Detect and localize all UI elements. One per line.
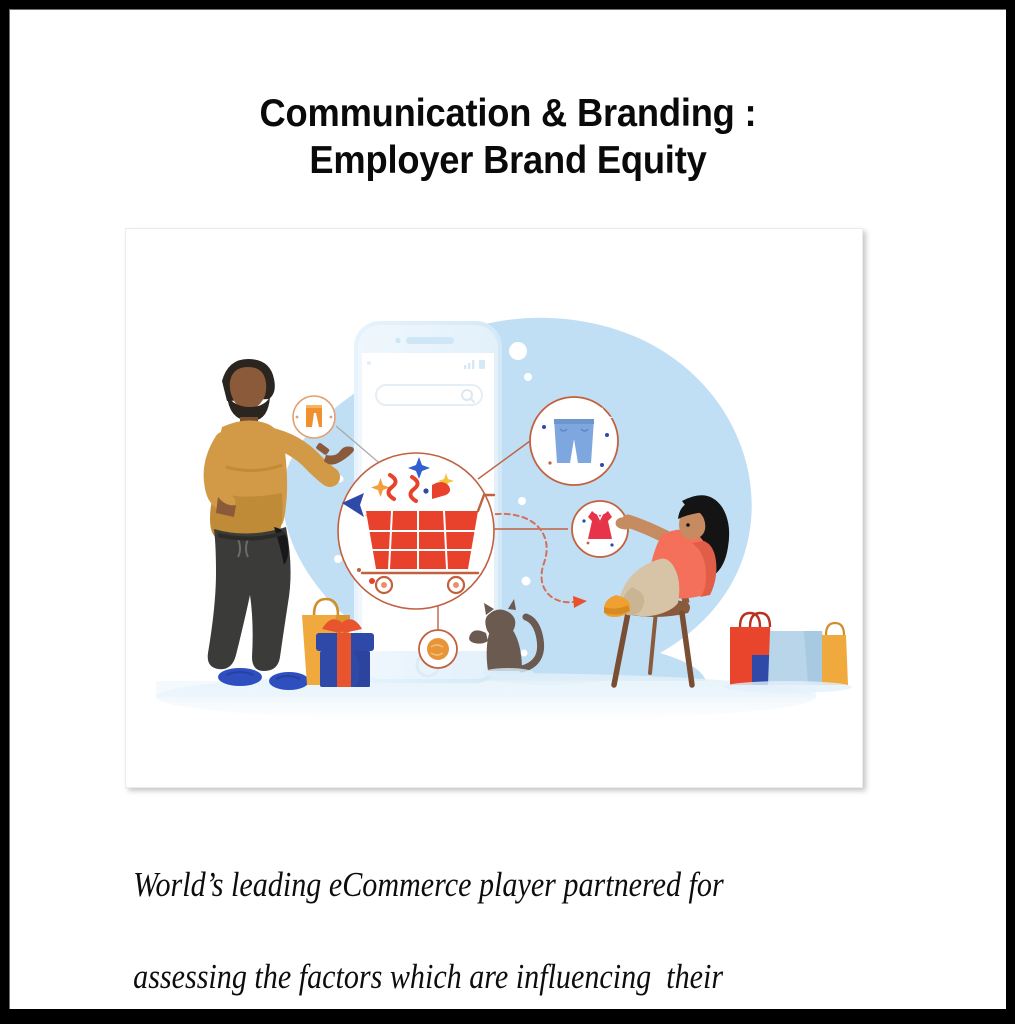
man-shoe-right [269, 672, 309, 690]
coin-badge [419, 630, 457, 668]
page-title-line-2: Employer Brand Equity [45, 137, 971, 184]
phone-camera [395, 338, 400, 343]
caption-line-1: World’s leading eCommerce player partner… [133, 865, 724, 904]
gift-ribbon [337, 633, 351, 687]
page-title: Communication & Branding : Employer Bran… [45, 90, 971, 184]
page-title-line-1: Communication & Branding : [45, 90, 971, 137]
trousers-badge [293, 396, 335, 438]
slide-caption: World’s leading eCommerce player partner… [88, 816, 815, 1009]
slide-page: Communication & Branding : Employer Bran… [0, 0, 1015, 1024]
dress-badge [572, 501, 628, 557]
illustration-image [125, 228, 863, 788]
bag-yellow-right [822, 635, 848, 685]
phone-speaker [406, 337, 454, 344]
shorts-badge [530, 397, 618, 485]
slide-canvas: Communication & Branding : Employer Bran… [9, 9, 1006, 1009]
man-shoe-left [218, 668, 262, 686]
illustration-svg [126, 229, 862, 787]
search-input[interactable] [376, 385, 482, 405]
caption-line-2: assessing the factors which are influenc… [133, 957, 723, 996]
shopping-cart-circle [338, 453, 494, 609]
